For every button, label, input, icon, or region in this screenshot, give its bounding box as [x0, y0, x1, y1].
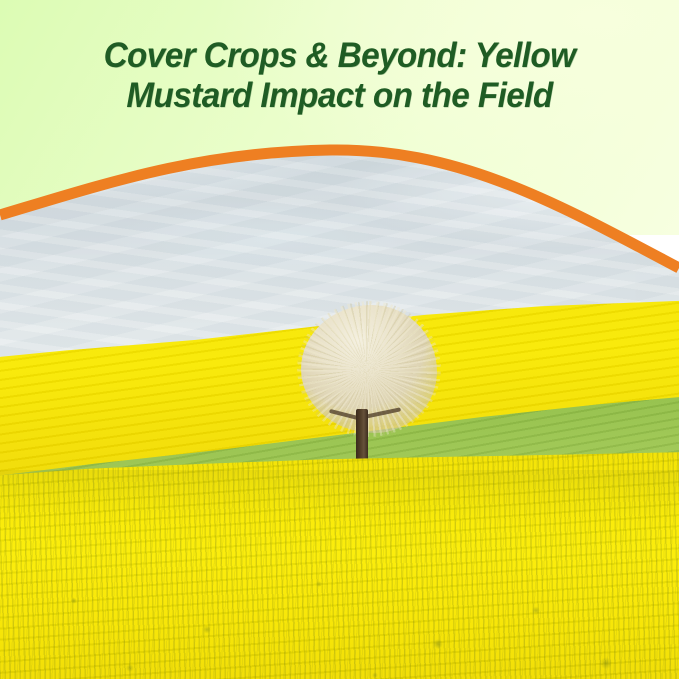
- orange-wave-divider: [0, 0, 679, 300]
- blossoming-tree: [293, 305, 443, 465]
- foreground-field-speckle: [0, 452, 679, 679]
- wave-stroke: [0, 150, 679, 268]
- poster-canvas: Cover Crops & Beyond: Yellow Mustard Imp…: [0, 0, 679, 679]
- tree-trunk: [356, 409, 368, 461]
